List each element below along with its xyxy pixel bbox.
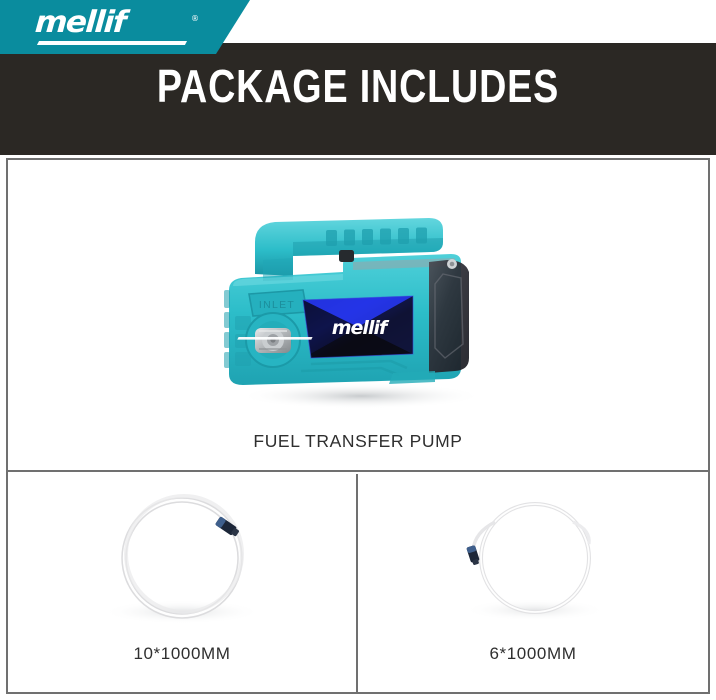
- panel-hose-10mm: 10*1000MM: [8, 474, 358, 692]
- fuel-transfer-pump-image: INLET: [193, 168, 523, 418]
- hose-connector-icon: [466, 545, 480, 566]
- hose-10mm-image: [72, 488, 292, 638]
- hose-illustration-thick: [72, 488, 292, 638]
- pump-power-button: [339, 250, 354, 262]
- pump-shadow: [239, 383, 483, 409]
- pump-illustration: INLET: [193, 168, 523, 418]
- brand-logo-text: mellif: [34, 8, 213, 38]
- panel-hose-6mm: 6*1000MM: [358, 474, 708, 692]
- pump-outlet-nozzle: [255, 328, 291, 353]
- page-title: PACKAGE INCLUDES: [64, 60, 651, 112]
- brand-logo: mellif ®: [36, 8, 206, 46]
- header-banner: mellif ® PACKAGE INCLUDES: [0, 0, 716, 155]
- package-includes-graphic: mellif ® PACKAGE INCLUDES: [0, 0, 716, 700]
- pump-inlet-label: INLET: [259, 299, 295, 311]
- hose-6mm-image: [423, 488, 643, 638]
- product-caption: FUEL TRANSFER PUMP: [8, 431, 708, 452]
- hose-caption-6mm: 6*1000MM: [358, 644, 708, 664]
- pump-decal-logo-text: mellif: [332, 317, 390, 339]
- pump-inlet-plate: INLET: [249, 290, 307, 316]
- header-teal-shape: mellif ®: [0, 0, 250, 54]
- hose-caption-10mm: 10*1000MM: [8, 644, 356, 664]
- pump-foot: [389, 371, 435, 384]
- hose-coil-inner: [126, 496, 242, 612]
- brand-logo-underline: [37, 41, 187, 45]
- registered-trademark-icon: ®: [191, 14, 199, 23]
- panel-fuel-transfer-pump: INLET: [8, 160, 708, 472]
- hose-illustration-thin: [423, 488, 643, 638]
- package-frame: INLET: [6, 158, 710, 694]
- hose-panels-row: 10*1000MM: [8, 474, 708, 692]
